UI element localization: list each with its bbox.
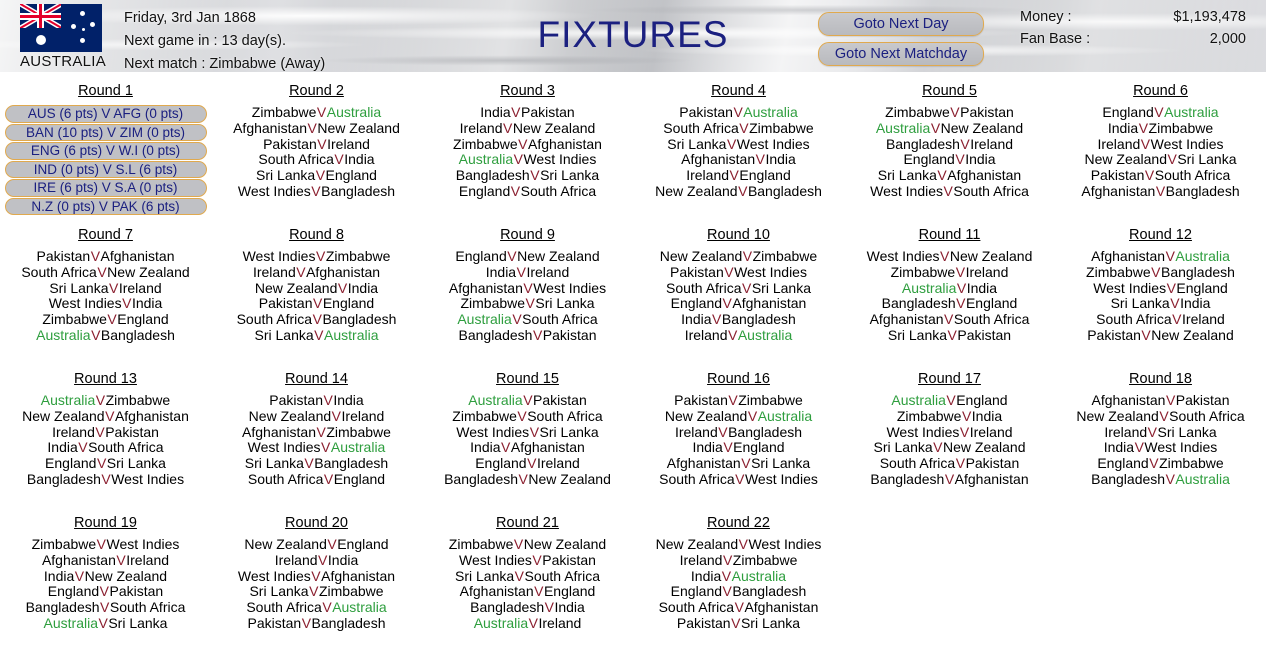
versus-separator-icon: V xyxy=(532,552,542,568)
match-fixture[interactable]: BangladeshVAfghanistan xyxy=(844,472,1055,488)
match-fixture[interactable]: New ZealandVBangladesh xyxy=(633,184,844,200)
away-team: Zimbabwe xyxy=(106,392,171,408)
match-fixture[interactable]: AustraliaVNew Zealand xyxy=(844,121,1055,137)
match-fixture[interactable]: PakistanVNew Zealand xyxy=(1055,328,1266,344)
away-team: Ireland xyxy=(1182,311,1225,327)
match-fixture[interactable]: EnglandVZimbabwe xyxy=(1055,456,1266,472)
match-fixture[interactable]: IndiaVBangladesh xyxy=(633,312,844,328)
away-team: Afghanistan xyxy=(732,295,806,311)
match-fixture[interactable]: AfghanistanVWest Indies xyxy=(422,281,633,297)
match-list: ZimbabweVPakistanAustraliaVNew ZealandBa… xyxy=(844,105,1055,200)
match-fixture[interactable]: West IndiesVIreland xyxy=(844,425,1055,441)
match-fixture[interactable]: AustraliaVSouth Africa xyxy=(422,312,633,328)
match-fixture[interactable]: BangladeshVIreland xyxy=(844,137,1055,153)
stats-block: Money : $1,193,478 Fan Base : 2,000 xyxy=(1020,6,1246,50)
match-fixture[interactable]: Sri LankaVAfghanistan xyxy=(844,168,1055,184)
versus-separator-icon: V xyxy=(1170,295,1180,311)
match-fixture[interactable]: ZimbabweVSri Lanka xyxy=(422,296,633,312)
match-fixture[interactable]: AfghanistanVEngland xyxy=(422,584,633,600)
home-team: Zimbabwe xyxy=(897,408,962,424)
match-list: New ZealandVZimbabwePakistanVWest Indies… xyxy=(633,249,844,344)
home-team: Zimbabwe xyxy=(32,536,97,552)
match-fixture[interactable]: IrelandVSri Lanka xyxy=(1055,425,1266,441)
versus-separator-icon: V xyxy=(517,408,527,424)
versus-separator-icon: V xyxy=(518,136,528,152)
versus-separator-icon: V xyxy=(315,167,325,183)
match-fixture[interactable]: BangladeshVWest Indies xyxy=(0,472,211,488)
match-fixture[interactable]: Sri LankaVSouth Africa xyxy=(422,569,633,585)
fanbase-row: Fan Base : 2,000 xyxy=(1020,28,1246,50)
match-fixture[interactable]: PakistanVZimbabwe xyxy=(633,393,844,409)
away-team: West Indies xyxy=(734,264,807,280)
match-result-pill[interactable]: ENG (6 pts) V W.I (0 pts) xyxy=(5,142,207,160)
match-fixture[interactable]: IrelandVBangladesh xyxy=(633,425,844,441)
match-fixture[interactable]: IndiaVWest Indies xyxy=(1055,440,1266,456)
match-fixture[interactable]: AustraliaVZimbabwe xyxy=(0,393,211,409)
match-result-pill[interactable]: AUS (6 pts) V AFG (0 pts) xyxy=(5,105,207,123)
round-column: Round 21ZimbabweVNew ZealandWest IndiesV… xyxy=(422,514,633,658)
match-fixture[interactable]: Sri LankaVWest Indies xyxy=(633,137,844,153)
match-result-pill[interactable]: IRE (6 pts) V S.A (0 pts) xyxy=(5,179,207,197)
match-fixture[interactable]: New ZealandVSouth Africa xyxy=(1055,409,1266,425)
versus-separator-icon: V xyxy=(724,264,734,280)
match-fixture[interactable]: IrelandVPakistan xyxy=(0,425,211,441)
goto-next-matchday-button[interactable]: Goto Next Matchday xyxy=(818,42,984,66)
away-team: Sri Lanka xyxy=(1177,151,1236,167)
match-fixture[interactable]: West IndiesVBangladesh xyxy=(211,184,422,200)
match-fixture[interactable]: Sri LankaVPakistan xyxy=(844,328,1055,344)
match-fixture[interactable]: IrelandVIndia xyxy=(211,553,422,569)
match-fixture[interactable]: Sri LankaVEngland xyxy=(211,168,422,184)
versus-separator-icon: V xyxy=(316,104,326,120)
match-fixture[interactable]: IrelandVAfghanistan xyxy=(211,265,422,281)
round-column: Round 13AustraliaVZimbabweNew ZealandVAf… xyxy=(0,370,211,514)
round-title: Round 10 xyxy=(633,226,844,244)
match-fixture[interactable]: IrelandVEngland xyxy=(633,168,844,184)
match-list: ZimbabweVWest IndiesAfghanistanVIrelandI… xyxy=(0,537,211,632)
home-team: Pakistan xyxy=(259,295,313,311)
goto-next-day-button[interactable]: Goto Next Day xyxy=(818,12,984,36)
away-team: South Africa xyxy=(525,568,601,584)
match-fixture[interactable]: West IndiesVSri Lanka xyxy=(422,425,633,441)
round-title: Round 11 xyxy=(844,226,1055,244)
versus-separator-icon: V xyxy=(534,583,544,599)
match-fixture[interactable]: ZimbabweVAfghanistan xyxy=(422,137,633,153)
match-fixture[interactable]: IndiaVZimbabwe xyxy=(1055,121,1266,137)
away-team: New Zealand xyxy=(943,439,1026,455)
home-team: Zimbabwe xyxy=(452,408,517,424)
versus-separator-icon: V xyxy=(331,408,341,424)
match-fixture[interactable]: IndiaVIreland xyxy=(422,265,633,281)
versus-separator-icon: V xyxy=(718,424,728,440)
home-team: India xyxy=(692,439,722,455)
match-fixture[interactable]: ZimbabweVPakistan xyxy=(844,105,1055,121)
match-fixture[interactable]: EnglandVAfghanistan xyxy=(633,296,844,312)
match-fixture[interactable]: South AfricaVBangladesh xyxy=(211,312,422,328)
match-fixture[interactable]: PakistanVBangladesh xyxy=(211,616,422,632)
match-fixture[interactable]: EnglandVBangladesh xyxy=(633,584,844,600)
match-fixture[interactable]: AfghanistanVIreland xyxy=(0,553,211,569)
away-team: Ireland xyxy=(126,552,169,568)
round-column: Round 12AfghanistanVAustraliaZimbabweVBa… xyxy=(1055,226,1266,370)
match-fixture[interactable]: West IndiesVNew Zealand xyxy=(844,249,1055,265)
match-fixture[interactable]: AustraliaVEngland xyxy=(844,393,1055,409)
versus-separator-icon: V xyxy=(307,120,317,136)
versus-separator-icon: V xyxy=(309,583,319,599)
versus-separator-icon: V xyxy=(731,615,741,631)
match-fixture[interactable]: EnglandVSri Lanka xyxy=(0,456,211,472)
match-result-pill[interactable]: IND (0 pts) V S.L (6 pts) xyxy=(5,161,207,179)
match-fixture[interactable]: AfghanistanVZimbabwe xyxy=(211,425,422,441)
versus-separator-icon: V xyxy=(90,248,100,264)
round-column: Round 16PakistanVZimbabweNew ZealandVAus… xyxy=(633,370,844,514)
versus-separator-icon: V xyxy=(315,248,325,264)
match-fixture[interactable]: South AfricaVZimbabwe xyxy=(633,121,844,137)
away-team: Afghanistan xyxy=(115,408,189,424)
match-fixture[interactable]: Sri LankaVIreland xyxy=(0,281,211,297)
versus-separator-icon: V xyxy=(735,471,745,487)
match-fixture[interactable]: AustraliaVBangladesh xyxy=(0,328,211,344)
away-team: India xyxy=(765,151,795,167)
match-list: AustraliaVEnglandZimbabweVIndiaWest Indi… xyxy=(844,393,1055,488)
round-title: Round 3 xyxy=(422,82,633,100)
match-fixture[interactable]: IndiaVSouth Africa xyxy=(0,440,211,456)
round-column: Round 17AustraliaVEnglandZimbabweVIndiaW… xyxy=(844,370,1055,514)
away-team: Bangladesh xyxy=(314,455,388,471)
match-fixture[interactable]: BangladeshVPakistan xyxy=(422,328,633,344)
match-fixture[interactable]: IrelandVAustralia xyxy=(633,328,844,344)
match-fixture[interactable]: South AfricaVAfghanistan xyxy=(633,600,844,616)
versus-separator-icon: V xyxy=(1151,264,1161,280)
home-team: Pakistan xyxy=(269,392,323,408)
match-list: ZimbabweVNew ZealandWest IndiesVPakistan… xyxy=(422,537,633,632)
away-team: India xyxy=(328,552,358,568)
match-fixture[interactable]: AfghanistanVSouth Africa xyxy=(844,312,1055,328)
match-fixture[interactable]: EnglandVIndia xyxy=(844,152,1055,168)
versus-separator-icon: V xyxy=(312,295,322,311)
away-team: England xyxy=(966,295,1017,311)
match-fixture[interactable]: AustraliaVPakistan xyxy=(422,393,633,409)
match-fixture[interactable]: Sri LankaVIndia xyxy=(1055,296,1266,312)
match-fixture[interactable]: South AfricaVEngland xyxy=(211,472,422,488)
away-team: Zimbabwe xyxy=(1159,455,1224,471)
match-result-pill[interactable]: BAN (10 pts) V ZIM (0 pts) xyxy=(5,124,207,142)
match-fixture[interactable]: ZimbabweVIreland xyxy=(844,265,1055,281)
match-fixture[interactable]: West IndiesVPakistan xyxy=(422,553,633,569)
match-fixture[interactable]: New ZealandVAustralia xyxy=(633,409,844,425)
home-team: New Zealand xyxy=(665,408,748,424)
versus-separator-icon: V xyxy=(96,455,106,471)
match-fixture[interactable]: South AfricaVAustralia xyxy=(211,600,422,616)
match-fixture[interactable]: EnglandVNew Zealand xyxy=(422,249,633,265)
match-list: IndiaVPakistanIrelandVNew ZealandZimbabw… xyxy=(422,105,633,200)
match-fixture[interactable]: West IndiesVEngland xyxy=(1055,281,1266,297)
versus-separator-icon: V xyxy=(518,471,528,487)
versus-separator-icon: V xyxy=(511,104,521,120)
match-fixture[interactable]: IndiaVAfghanistan xyxy=(422,440,633,456)
match-fixture[interactable]: Sri LankaVNew Zealand xyxy=(844,440,1055,456)
match-fixture[interactable]: PakistanVSri Lanka xyxy=(633,616,844,632)
away-team: Ireland xyxy=(526,264,569,280)
match-list: PakistanVIndiaNew ZealandVIrelandAfghani… xyxy=(211,393,422,488)
round-title: Round 14 xyxy=(211,370,422,388)
match-fixture[interactable]: EnglandVPakistan xyxy=(0,584,211,600)
match-fixture[interactable]: New ZealandVEngland xyxy=(211,537,422,553)
match-fixture[interactable]: BangladeshVIndia xyxy=(422,600,633,616)
match-fixture[interactable]: South AfricaVIndia xyxy=(211,152,422,168)
home-team: England xyxy=(48,583,99,599)
away-team: Zimbabwe xyxy=(733,552,798,568)
match-fixture[interactable]: ZimbabweVAustralia xyxy=(211,105,422,121)
match-fixture[interactable]: IndiaVAustralia xyxy=(633,569,844,585)
match-fixture[interactable]: AfghanistanVAustralia xyxy=(1055,249,1266,265)
away-team: Afghanistan xyxy=(511,439,585,455)
home-team: South Africa xyxy=(659,599,735,615)
versus-separator-icon: V xyxy=(316,424,326,440)
round-title: Round 17 xyxy=(844,370,1055,388)
home-team: Pakistan xyxy=(1091,167,1145,183)
versus-separator-icon: V xyxy=(318,552,328,568)
match-fixture[interactable]: ZimbabweVNew Zealand xyxy=(422,537,633,553)
home-team: Zimbabwe xyxy=(1086,264,1151,280)
versus-separator-icon: V xyxy=(944,311,954,327)
versus-separator-icon: V xyxy=(959,424,969,440)
match-fixture[interactable]: West IndiesVIndia xyxy=(0,296,211,312)
versus-separator-icon: V xyxy=(311,568,321,584)
away-team: Ireland xyxy=(966,264,1009,280)
match-fixture[interactable]: South AfricaVPakistan xyxy=(844,456,1055,472)
versus-separator-icon: V xyxy=(301,615,311,631)
match-fixture[interactable]: AfghanistanVSri Lanka xyxy=(633,456,844,472)
home-team: Pakistan xyxy=(677,615,731,631)
home-team: Sri Lanka xyxy=(667,136,726,152)
away-team: Afghanistan xyxy=(744,599,818,615)
away-team: India xyxy=(965,151,995,167)
versus-separator-icon: V xyxy=(742,280,752,296)
away-team: Australia xyxy=(327,104,381,120)
home-team: India xyxy=(470,439,500,455)
home-team: England xyxy=(459,183,510,199)
match-fixture[interactable]: West IndiesVAfghanistan xyxy=(211,569,422,585)
round-title: Round 20 xyxy=(211,514,422,532)
match-fixture[interactable]: IndiaVNew Zealand xyxy=(0,569,211,585)
match-fixture[interactable]: New ZealandVIreland xyxy=(211,409,422,425)
away-team: Afghanistan xyxy=(528,136,602,152)
match-fixture[interactable]: South AfricaVSri Lanka xyxy=(633,281,844,297)
home-team: England xyxy=(903,151,954,167)
versus-separator-icon: V xyxy=(122,295,132,311)
match-fixture[interactable]: ZimbabweVEngland xyxy=(0,312,211,328)
round-title: Round 13 xyxy=(0,370,211,388)
match-fixture[interactable]: PakistanVIndia xyxy=(211,393,422,409)
match-fixture[interactable]: AustraliaVSri Lanka xyxy=(0,616,211,632)
versus-separator-icon: V xyxy=(755,151,765,167)
home-team: Pakistan xyxy=(263,136,317,152)
match-fixture[interactable]: AustraliaVIndia xyxy=(844,281,1055,297)
away-team: New Zealand xyxy=(517,248,600,264)
home-team: England xyxy=(45,455,96,471)
versus-separator-icon: V xyxy=(323,471,333,487)
home-team: Zimbabwe xyxy=(449,536,514,552)
app-header: AUSTRALIA Friday, 3rd Jan 1868 Next game… xyxy=(0,0,1266,72)
match-fixture[interactable]: PakistanVWest Indies xyxy=(633,265,844,281)
match-fixture[interactable]: ZimbabweVSouth Africa xyxy=(422,409,633,425)
versus-separator-icon: V xyxy=(530,167,540,183)
versus-separator-icon: V xyxy=(510,183,520,199)
home-team: West Indies xyxy=(886,424,959,440)
match-fixture[interactable]: West IndiesVZimbabwe xyxy=(211,249,422,265)
home-team: West Indies xyxy=(1093,280,1166,296)
home-team: India xyxy=(681,311,711,327)
away-team: South Africa xyxy=(110,599,186,615)
versus-separator-icon: V xyxy=(101,471,111,487)
versus-separator-icon: V xyxy=(116,552,126,568)
home-team: South Africa xyxy=(248,471,324,487)
home-team: England xyxy=(475,455,526,471)
match-fixture[interactable]: AfghanistanVIndia xyxy=(633,152,844,168)
match-list: EnglandVAustraliaIndiaVZimbabweIrelandVW… xyxy=(1055,105,1266,200)
match-fixture[interactable]: West IndiesVSouth Africa xyxy=(844,184,1055,200)
away-team: New Zealand xyxy=(528,471,611,487)
match-fixture[interactable]: PakistanVAfghanistan xyxy=(0,249,211,265)
match-fixture[interactable]: West IndiesVAustralia xyxy=(211,440,422,456)
away-team: Pakistan xyxy=(1176,392,1230,408)
match-fixture[interactable]: South AfricaVNew Zealand xyxy=(0,265,211,281)
home-team: Australia xyxy=(468,392,522,408)
match-result-pill[interactable]: N.Z (0 pts) V PAK (6 pts) xyxy=(5,198,207,216)
home-team: England xyxy=(671,583,722,599)
match-fixture[interactable]: EnglandVSouth Africa xyxy=(422,184,633,200)
away-team: West Indies xyxy=(107,536,180,552)
match-fixture[interactable]: New ZealandVWest Indies xyxy=(633,537,844,553)
match-fixture[interactable]: New ZealandVAfghanistan xyxy=(0,409,211,425)
match-fixture[interactable]: Sri LankaVBangladesh xyxy=(211,456,422,472)
versus-separator-icon: V xyxy=(502,120,512,136)
away-team: New Zealand xyxy=(950,248,1033,264)
away-team: Australia xyxy=(1175,248,1229,264)
match-fixture[interactable]: IndiaVPakistan xyxy=(422,105,633,121)
away-team: Zimbabwe xyxy=(738,392,803,408)
match-fixture[interactable]: New ZealandVSri Lanka xyxy=(1055,152,1266,168)
match-fixture[interactable]: ZimbabweVBangladesh xyxy=(1055,265,1266,281)
match-fixture[interactable]: BangladeshVSouth Africa xyxy=(0,600,211,616)
away-team: West Indies xyxy=(533,280,606,296)
away-team: Pakistan xyxy=(105,424,159,440)
match-fixture[interactable]: New ZealandVIndia xyxy=(211,281,422,297)
away-team: Ireland xyxy=(539,615,582,631)
versus-separator-icon: V xyxy=(1155,183,1165,199)
round-title: Round 8 xyxy=(211,226,422,244)
match-fixture[interactable]: ZimbabweVWest Indies xyxy=(0,537,211,553)
home-team: Australia xyxy=(36,327,90,343)
match-fixture[interactable]: IrelandVWest Indies xyxy=(1055,137,1266,153)
home-team: New Zealand xyxy=(249,408,332,424)
match-fixture[interactable]: BangladeshVSri Lanka xyxy=(422,168,633,184)
match-fixture[interactable]: AfghanistanVPakistan xyxy=(1055,393,1266,409)
away-team: New Zealand xyxy=(941,120,1024,136)
match-fixture[interactable]: AustraliaVIreland xyxy=(422,616,633,632)
match-fixture[interactable]: ZimbabweVIndia xyxy=(844,409,1055,425)
away-team: Zimbabwe xyxy=(326,424,391,440)
money-value: $1,193,478 xyxy=(1173,6,1246,28)
match-fixture[interactable]: IrelandVNew Zealand xyxy=(422,121,633,137)
versus-separator-icon: V xyxy=(728,392,738,408)
versus-separator-icon: V xyxy=(91,327,101,343)
round-column: Round 9EnglandVNew ZealandIndiaVIrelandA… xyxy=(422,226,633,370)
versus-separator-icon: V xyxy=(322,599,332,615)
match-fixture[interactable]: Sri LankaVAustralia xyxy=(211,328,422,344)
home-team: India xyxy=(44,568,74,584)
away-team: Australia xyxy=(331,439,385,455)
match-fixture[interactable]: BangladeshVEngland xyxy=(844,296,1055,312)
match-fixture[interactable]: New ZealandVZimbabwe xyxy=(633,249,844,265)
round-row: Round 19ZimbabweVWest IndiesAfghanistanV… xyxy=(0,514,1266,658)
round-column: Round 11West IndiesVNew ZealandZimbabweV… xyxy=(844,226,1055,370)
versus-separator-icon: V xyxy=(78,439,88,455)
match-fixture[interactable]: South AfricaVIreland xyxy=(1055,312,1266,328)
versus-separator-icon: V xyxy=(955,264,965,280)
away-team: India xyxy=(967,280,997,296)
versus-separator-icon: V xyxy=(722,295,732,311)
versus-separator-icon: V xyxy=(946,392,956,408)
away-team: Australia xyxy=(1175,471,1229,487)
versus-separator-icon: V xyxy=(956,280,966,296)
match-fixture[interactable]: AustraliaVWest Indies xyxy=(422,152,633,168)
away-team: Bangladesh xyxy=(101,327,175,343)
match-fixture[interactable]: PakistanVIreland xyxy=(211,137,422,153)
home-team: Ireland xyxy=(253,264,296,280)
match-fixture[interactable]: EnglandVIreland xyxy=(422,456,633,472)
match-fixture[interactable]: BangladeshVAustralia xyxy=(1055,472,1266,488)
match-fixture[interactable]: EnglandVAustralia xyxy=(1055,105,1266,121)
match-fixture[interactable]: IrelandVZimbabwe xyxy=(633,553,844,569)
away-team: Australia xyxy=(1164,104,1218,120)
away-team: Pakistan xyxy=(543,327,597,343)
match-fixture[interactable]: Sri LankaVZimbabwe xyxy=(211,584,422,600)
away-team: Zimbabwe xyxy=(319,583,384,599)
versus-separator-icon: V xyxy=(721,568,731,584)
home-team: South Africa xyxy=(880,455,956,471)
home-team: Zimbabwe xyxy=(453,136,518,152)
versus-separator-icon: V xyxy=(961,408,971,424)
match-fixture[interactable]: AfghanistanVNew Zealand xyxy=(211,121,422,137)
match-fixture[interactable]: PakistanVAustralia xyxy=(633,105,844,121)
match-fixture[interactable]: South AfricaVWest Indies xyxy=(633,472,844,488)
match-fixture[interactable]: BangladeshVNew Zealand xyxy=(422,472,633,488)
home-team: Afghanistan xyxy=(667,455,741,471)
versus-separator-icon: V xyxy=(1141,327,1151,343)
home-team: Australia xyxy=(41,392,95,408)
away-team: Pakistan xyxy=(110,583,164,599)
home-team: Ireland xyxy=(52,424,95,440)
away-team: Sri Lanka xyxy=(540,424,599,440)
versus-separator-icon: V xyxy=(729,167,739,183)
match-fixture[interactable]: AfghanistanVBangladesh xyxy=(1055,184,1266,200)
versus-separator-icon: V xyxy=(726,136,736,152)
away-team: Bangladesh xyxy=(321,183,395,199)
match-fixture[interactable]: IndiaVEngland xyxy=(633,440,844,456)
versus-separator-icon: V xyxy=(74,568,84,584)
away-team: South Africa xyxy=(1169,408,1245,424)
home-team: England xyxy=(1102,104,1153,120)
away-team: Afghanistan xyxy=(306,264,380,280)
versus-separator-icon: V xyxy=(337,280,347,296)
match-fixture[interactable]: PakistanVEngland xyxy=(211,296,422,312)
away-team: Pakistan xyxy=(960,104,1014,120)
home-team: India xyxy=(1108,120,1138,136)
versus-separator-icon: V xyxy=(100,599,110,615)
match-fixture[interactable]: PakistanVSouth Africa xyxy=(1055,168,1266,184)
